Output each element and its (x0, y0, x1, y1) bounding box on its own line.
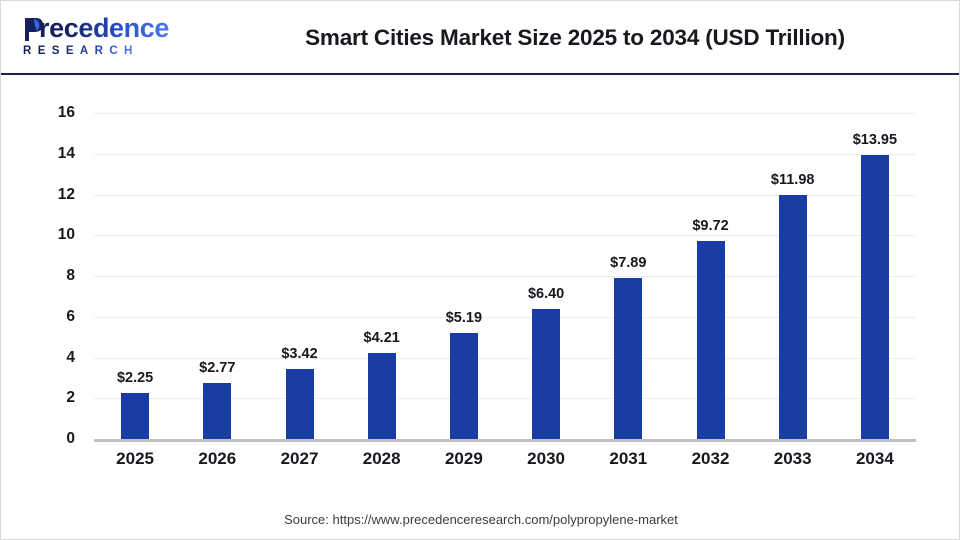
x-tick-label-2026: 2026 (172, 449, 262, 469)
bar-value-label: $5.19 (419, 310, 509, 326)
bar-value-label: $13.95 (830, 132, 920, 148)
bar-2030[interactable] (532, 309, 560, 439)
bar-value-label: $6.40 (501, 286, 591, 302)
x-tick-label-2030: 2030 (501, 449, 591, 469)
y-tick-label: 8 (35, 267, 75, 285)
y-tick-label: 10 (35, 226, 75, 244)
bar-2026[interactable] (203, 383, 231, 439)
axis-baseline (94, 439, 916, 442)
page-title: Smart Cities Market Size 2025 to 2034 (U… (201, 25, 949, 51)
x-tick-label-2033: 2033 (748, 449, 838, 469)
bar-value-label: $3.42 (255, 346, 345, 362)
x-tick-label-2031: 2031 (583, 449, 673, 469)
bar-2033[interactable] (779, 195, 807, 439)
y-tick-label: 14 (35, 145, 75, 163)
x-tick-label-2032: 2032 (666, 449, 756, 469)
bar-2027[interactable] (286, 369, 314, 439)
plot-area: 1614121086420 $2.25$2.77$3.42$4.21$5.19$… (1, 75, 960, 540)
y-tick-label: 12 (35, 186, 75, 204)
brand-subtext: RESEARCH (23, 44, 139, 58)
bar-value-label: $9.72 (666, 218, 756, 234)
chart-header: recedence RESEARCH Smart Cities Market S… (1, 1, 959, 75)
bar-value-label: $4.21 (337, 330, 427, 346)
x-tick-label-2029: 2029 (419, 449, 509, 469)
bar-2034[interactable] (861, 155, 889, 439)
y-tick-label: 4 (35, 349, 75, 367)
bar-value-label: $2.77 (172, 360, 262, 376)
gridline (94, 154, 916, 155)
y-tick-label: 2 (35, 389, 75, 407)
bar-2031[interactable] (614, 278, 642, 439)
source-note: Source: https://www.precedenceresearch.c… (1, 512, 960, 527)
x-tick-label-2027: 2027 (255, 449, 345, 469)
brand-wordmark: recedence (39, 13, 169, 43)
chart-card: recedence RESEARCH Smart Cities Market S… (0, 0, 960, 540)
bar-value-label: $2.25 (90, 370, 180, 386)
gridline (94, 113, 916, 114)
y-tick-label: 6 (35, 308, 75, 326)
precedence-research-logo: recedence RESEARCH (17, 13, 177, 65)
bar-2025[interactable] (121, 393, 149, 439)
bar-value-label: $11.98 (748, 172, 838, 188)
x-tick-label-2025: 2025 (90, 449, 180, 469)
x-tick-label-2034: 2034 (830, 449, 920, 469)
y-tick-label: 16 (35, 104, 75, 122)
bar-2032[interactable] (697, 241, 725, 439)
x-tick-label-2028: 2028 (337, 449, 427, 469)
y-tick-label: 0 (35, 430, 75, 448)
bar-value-label: $7.89 (583, 255, 673, 271)
bar-2029[interactable] (450, 333, 478, 439)
bar-2028[interactable] (368, 353, 396, 439)
